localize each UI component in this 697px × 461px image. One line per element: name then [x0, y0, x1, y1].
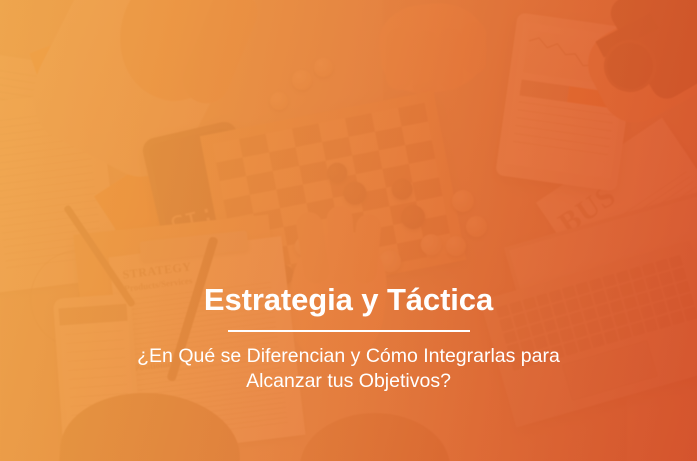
- article-hero-banner: 08:15: [0, 0, 697, 461]
- page-subtitle-line-2: Alcanzar tus Objetivos?: [246, 370, 451, 392]
- page-title: Estrategia y Táctica: [34, 281, 663, 319]
- hero-text-block: Estrategia y Táctica ¿En Qué se Diferenc…: [0, 281, 697, 394]
- title-divider: [228, 330, 470, 332]
- page-subtitle: ¿En Qué se Diferencian y Cómo Integrarla…: [34, 344, 663, 394]
- page-subtitle-line-1: ¿En Qué se Diferencian y Cómo Integrarla…: [137, 345, 560, 367]
